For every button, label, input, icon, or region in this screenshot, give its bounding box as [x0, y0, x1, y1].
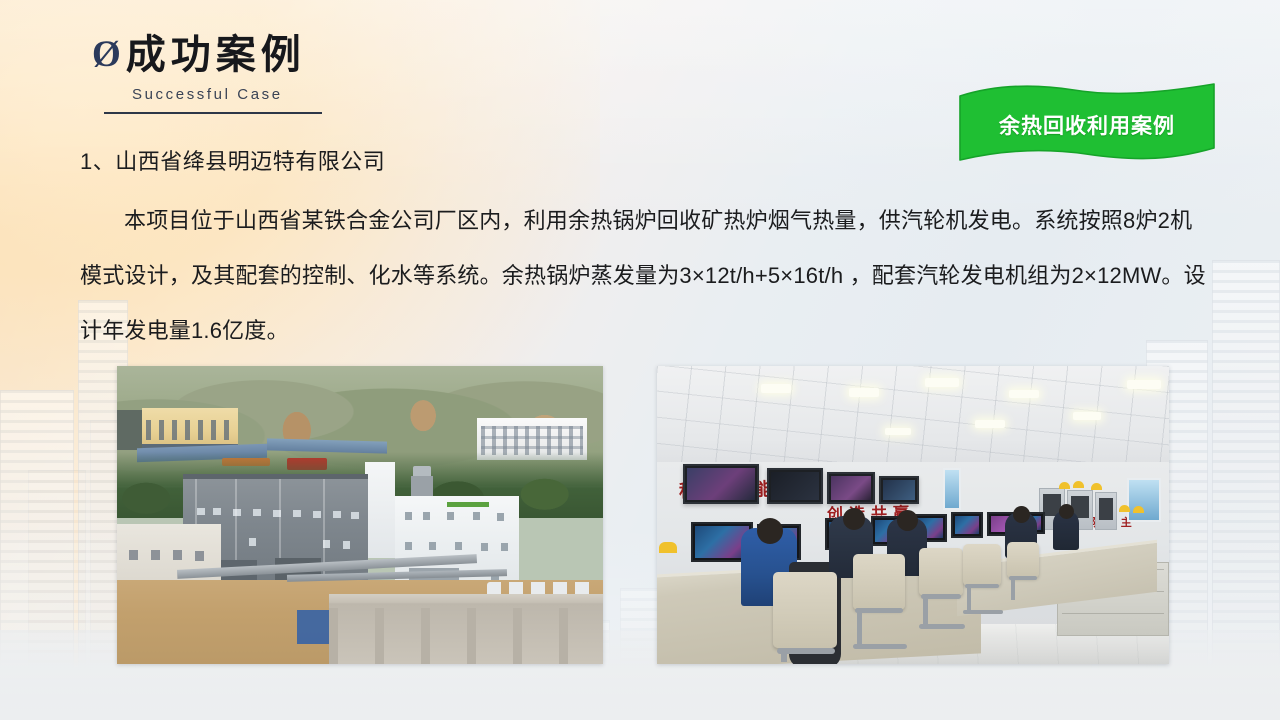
case-paragraph: 本项目位于山西省某铁合金公司厂区内，利用余热锅炉回收矿热炉烟气热量，供汽轮机发电…	[80, 193, 1210, 358]
page-subtitle: Successful Case	[132, 86, 322, 103]
page-title: Ø 成功案例	[92, 34, 322, 77]
control-room-photo: 科技节能 创造共赢 安全第一 预防为主	[657, 366, 1169, 664]
slide-canvas: Ø 成功案例 Successful Case 余热回收利用案例 1、山西省绛县明…	[0, 0, 1280, 720]
page-title-text: 成功案例	[126, 34, 306, 77]
body-copy: 1、山西省绛县明迈特有限公司 本项目位于山西省某铁合金公司厂区内，利用余热锅炉回…	[80, 144, 1210, 358]
slide-title-block: Ø 成功案例 Successful Case	[92, 34, 322, 114]
case-heading: 1、山西省绛县明迈特有限公司	[80, 144, 1210, 176]
title-divider	[104, 112, 322, 114]
industrial-plant-exterior-photo	[117, 366, 603, 664]
slashed-circle-icon: Ø	[92, 35, 121, 75]
